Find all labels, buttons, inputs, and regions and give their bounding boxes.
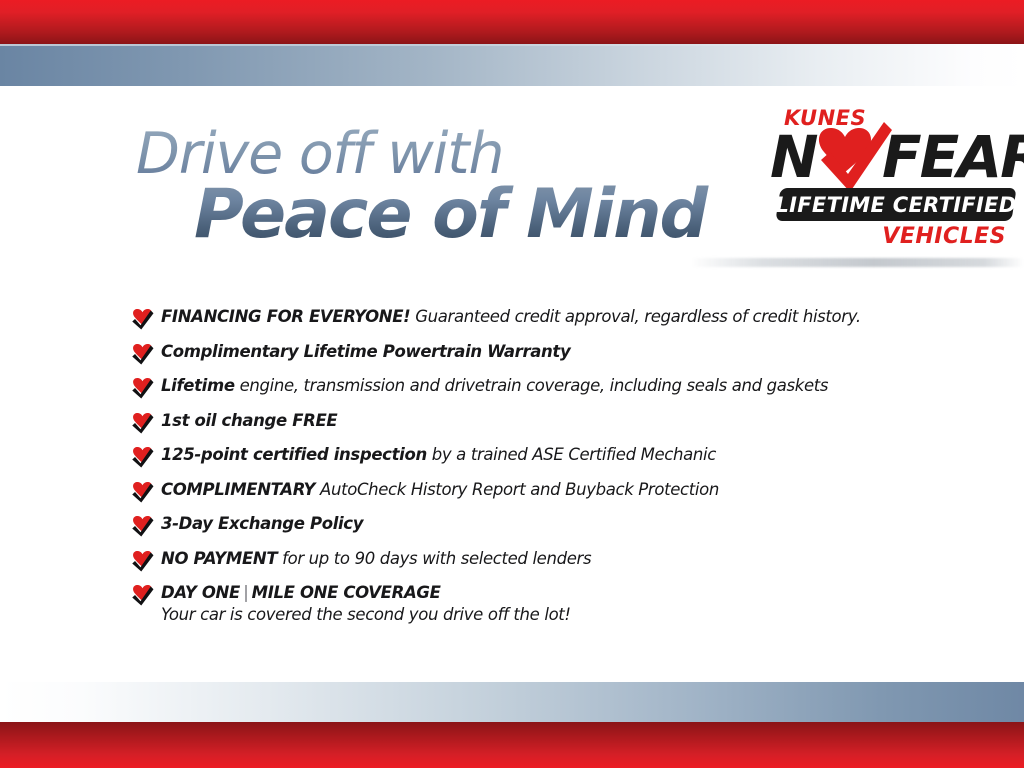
promo-poster: Drive off with Peace of Mind KUNES N FEA… [0, 0, 1024, 768]
list-item-text: NO PAYMENT for up to 90 days with select… [161, 548, 591, 569]
day-one-line: DAY ONE|MILE ONE COVERAGE [161, 583, 441, 602]
list-item-bold: COMPLIMENTARY [161, 480, 315, 499]
list-item-text: Complimentary Lifetime Powertrain Warran… [161, 341, 570, 362]
list-item: Lifetime engine, transmission and drivet… [130, 375, 930, 399]
list-item-regular: for up to 90 days with selected lenders [277, 549, 591, 568]
list-item-text: FINANCING FOR EVERYONE! Guaranteed credi… [161, 306, 861, 327]
headline-block: Drive off with Peace of Mind [136, 124, 736, 252]
bottom-blue-band [0, 682, 1024, 722]
list-item-text: 125-point certified inspection by a trai… [161, 444, 716, 465]
headline-line-2: Peace of Mind [194, 178, 736, 252]
heart-check-icon [130, 515, 154, 537]
list-item-bold: Complimentary Lifetime Powertrain Warran… [161, 342, 570, 361]
heart-check-icon [130, 584, 154, 606]
list-item-text: COMPLIMENTARY AutoCheck History Report a… [161, 479, 719, 500]
list-item: 1st oil change FREE [130, 410, 930, 434]
list-item: 125-point certified inspection by a trai… [130, 444, 930, 468]
list-item-text: Lifetime engine, transmission and drivet… [161, 375, 828, 396]
list-item: 3-Day Exchange Policy [130, 513, 930, 537]
bottom-red-band [0, 722, 1024, 768]
top-red-band [0, 0, 1024, 44]
top-blue-band [0, 44, 1024, 86]
list-item-regular: by a trained ASE Certified Mechanic [427, 445, 716, 464]
heart-check-icon [808, 122, 892, 194]
list-item-regular: engine, transmission and drivetrain cove… [235, 376, 828, 395]
heart-check-icon [130, 550, 154, 572]
kunes-no-fear-logo: KUNES N FEAR LIFETIME CERTIFIED VEHICLES [770, 106, 1014, 246]
heart-check-icon [130, 481, 154, 503]
heart-check-icon [130, 343, 154, 365]
logo-no-fear-wordmark: N FEAR [770, 128, 1014, 190]
day-one-subtext: Your car is covered the second you drive… [161, 604, 571, 626]
mile-one-label: MILE ONE COVERAGE [252, 583, 441, 602]
logo-word-vehicles: VEHICLES [882, 224, 1006, 249]
day-one-label: DAY ONE [161, 583, 240, 602]
list-item-bold: NO PAYMENT [161, 549, 277, 568]
list-item: COMPLIMENTARY AutoCheck History Report a… [130, 479, 930, 503]
list-item-day-one-mile-one: DAY ONE|MILE ONE COVERAGE Your car is co… [130, 582, 930, 626]
heart-check-icon [130, 308, 154, 330]
heart-check-icon [130, 446, 154, 468]
list-item: Complimentary Lifetime Powertrain Warran… [130, 341, 930, 365]
logo-divider-shadow [690, 258, 1024, 267]
list-item-bold: 3-Day Exchange Policy [161, 514, 363, 533]
list-item-text: DAY ONE|MILE ONE COVERAGE Your car is co… [161, 582, 571, 626]
list-item-bold: 125-point certified inspection [161, 445, 427, 464]
list-item-regular: Guaranteed credit approval, regardless o… [410, 307, 860, 326]
list-item-bold: 1st oil change FREE [161, 411, 337, 430]
logo-word-fear: FEAR [882, 128, 1024, 186]
list-item: FINANCING FOR EVERYONE! Guaranteed credi… [130, 306, 930, 330]
benefits-list: FINANCING FOR EVERYONE! Guaranteed credi… [130, 306, 930, 637]
heart-check-icon [130, 377, 154, 399]
list-item-bold: FINANCING FOR EVERYONE! [161, 307, 410, 326]
list-item-regular: AutoCheck History Report and Buyback Pro… [315, 480, 719, 499]
list-item: NO PAYMENT for up to 90 days with select… [130, 548, 930, 572]
top-blue-band-highlight [0, 44, 1024, 46]
list-item-text: 1st oil change FREE [161, 410, 337, 431]
day-one-separator: | [240, 583, 252, 602]
list-item-bold: Lifetime [161, 376, 235, 395]
heart-check-icon [130, 412, 154, 434]
logo-certified-bar-label: LIFETIME CERTIFIED [778, 188, 1014, 221]
list-item-text: 3-Day Exchange Policy [161, 513, 363, 534]
